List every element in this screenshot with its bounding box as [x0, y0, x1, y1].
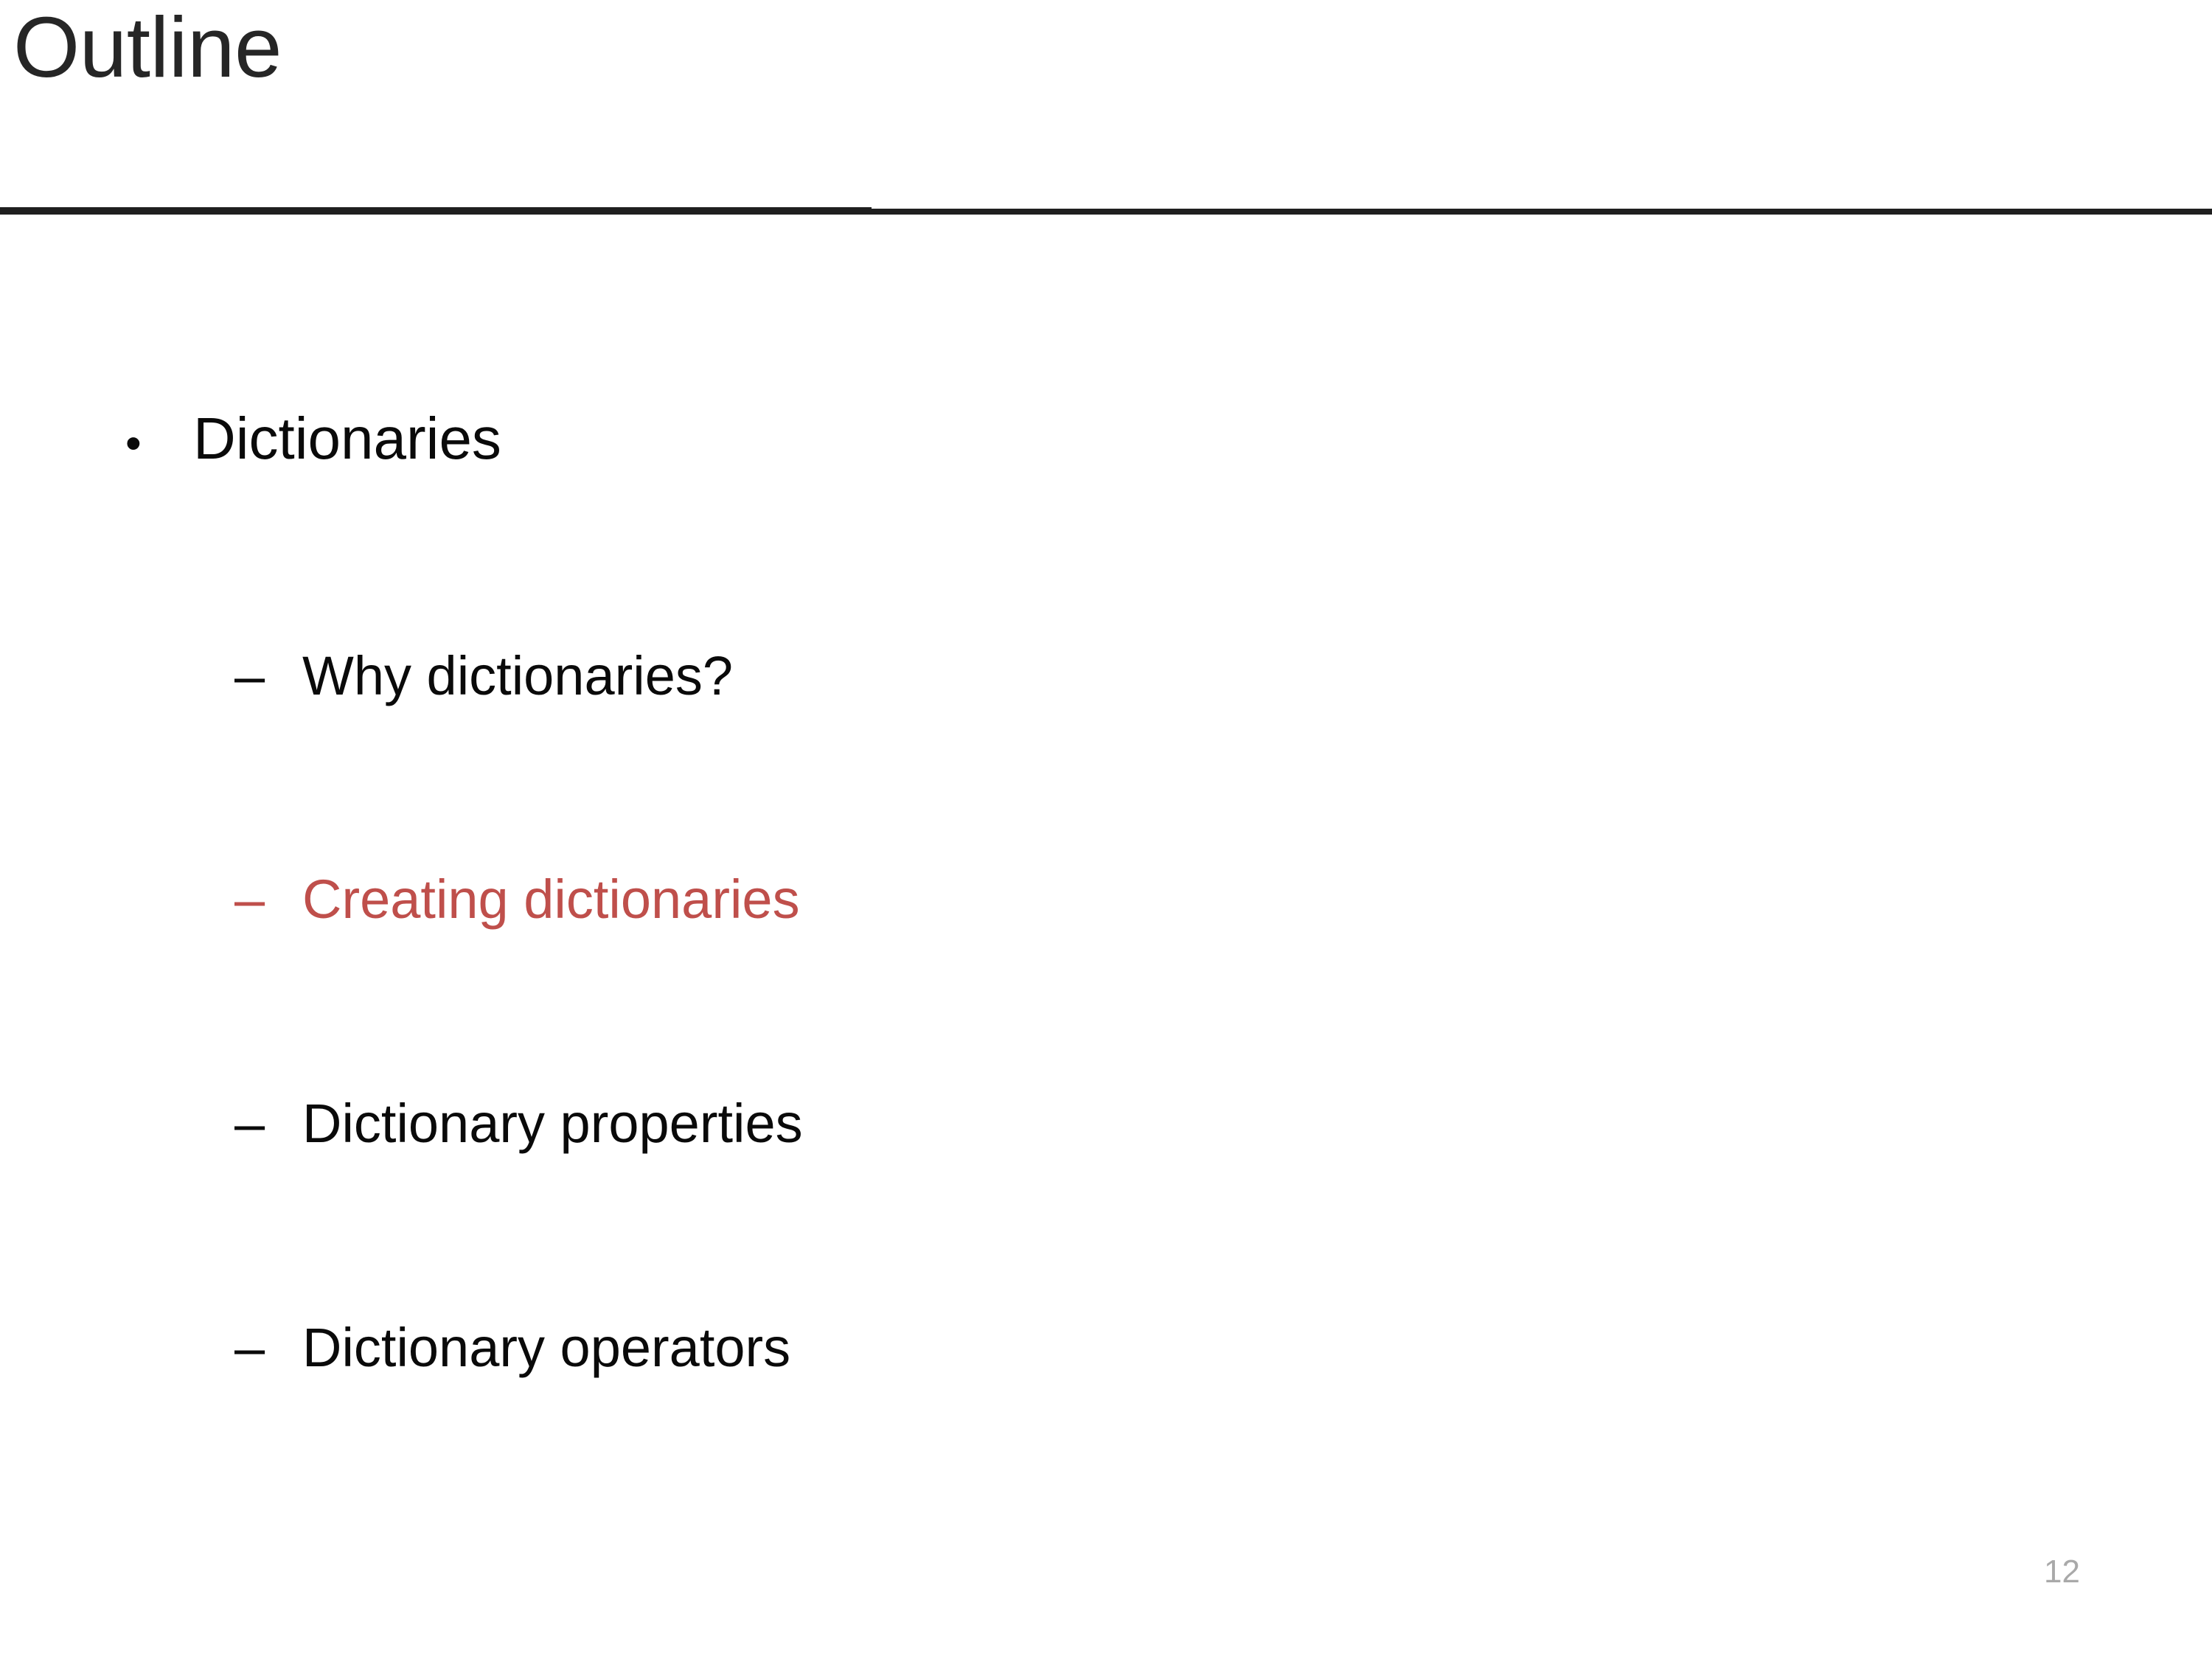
slide-canvas: Outline • Dictionaries – Why dictionarie…: [0, 0, 2212, 1659]
outline-item-label: Why dictionaries?: [302, 649, 733, 703]
outline-list: • Dictionaries – Why dictionaries? – Cre…: [0, 0, 2212, 1659]
outline-item-label: Dictionary operators: [302, 1321, 790, 1375]
outline-item-why-dictionaries: – Why dictionaries?: [234, 649, 2152, 703]
outline-item-dictionary-operators: – Dictionary operators: [234, 1321, 2152, 1375]
en-dash-icon: –: [234, 872, 302, 927]
outline-item-label: Dictionaries: [193, 409, 501, 468]
outline-item-label: Dictionary properties: [302, 1096, 803, 1151]
outline-item-label-highlighted: Creating dictionaries: [302, 872, 800, 927]
page-number: 12: [2044, 1556, 2080, 1588]
outline-item-creating-dictionaries: – Creating dictionaries: [234, 872, 2152, 927]
outline-item-dictionary-properties: – Dictionary properties: [234, 1096, 2152, 1151]
en-dash-icon: –: [234, 649, 302, 703]
outline-item-dictionaries: • Dictionaries: [125, 409, 2116, 468]
en-dash-icon: –: [234, 1096, 302, 1151]
bullet-dot-icon: •: [125, 421, 193, 467]
en-dash-icon: –: [234, 1321, 302, 1375]
